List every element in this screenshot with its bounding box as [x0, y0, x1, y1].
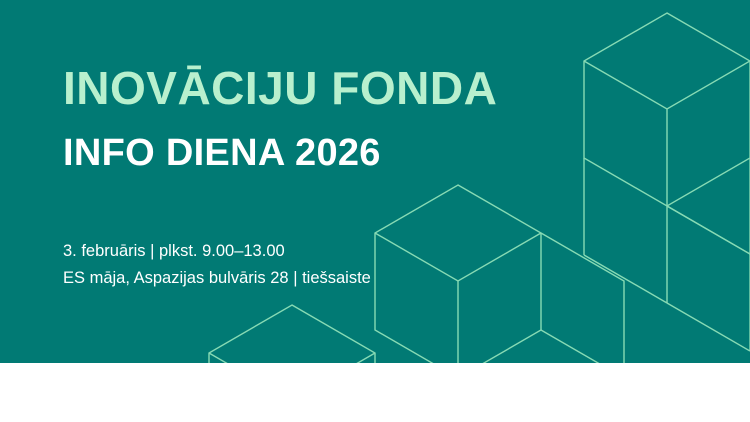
event-location: ES māja, Aspazijas bulvāris 28 | tiešsai…	[63, 265, 371, 292]
event-details: 3. februāris | plkst. 9.00–13.00 ES māja…	[63, 238, 371, 292]
partner-logo-bar: Eiropas Komisija	[0, 363, 750, 422]
isometric-cube-pattern	[0, 0, 750, 363]
banner-teal-background: INOVĀCIJU FONDA INFO DIENA 2026 3. febru…	[0, 0, 750, 363]
heading-line-1: INOVĀCIJU FONDA	[63, 60, 563, 116]
heading-line-2: INFO DIENA 2026	[63, 130, 563, 176]
event-datetime: 3. februāris | plkst. 9.00–13.00	[63, 238, 371, 265]
banner-heading: INOVĀCIJU FONDA INFO DIENA 2026	[63, 60, 563, 176]
event-banner: INOVĀCIJU FONDA INFO DIENA 2026 3. febru…	[0, 0, 750, 422]
